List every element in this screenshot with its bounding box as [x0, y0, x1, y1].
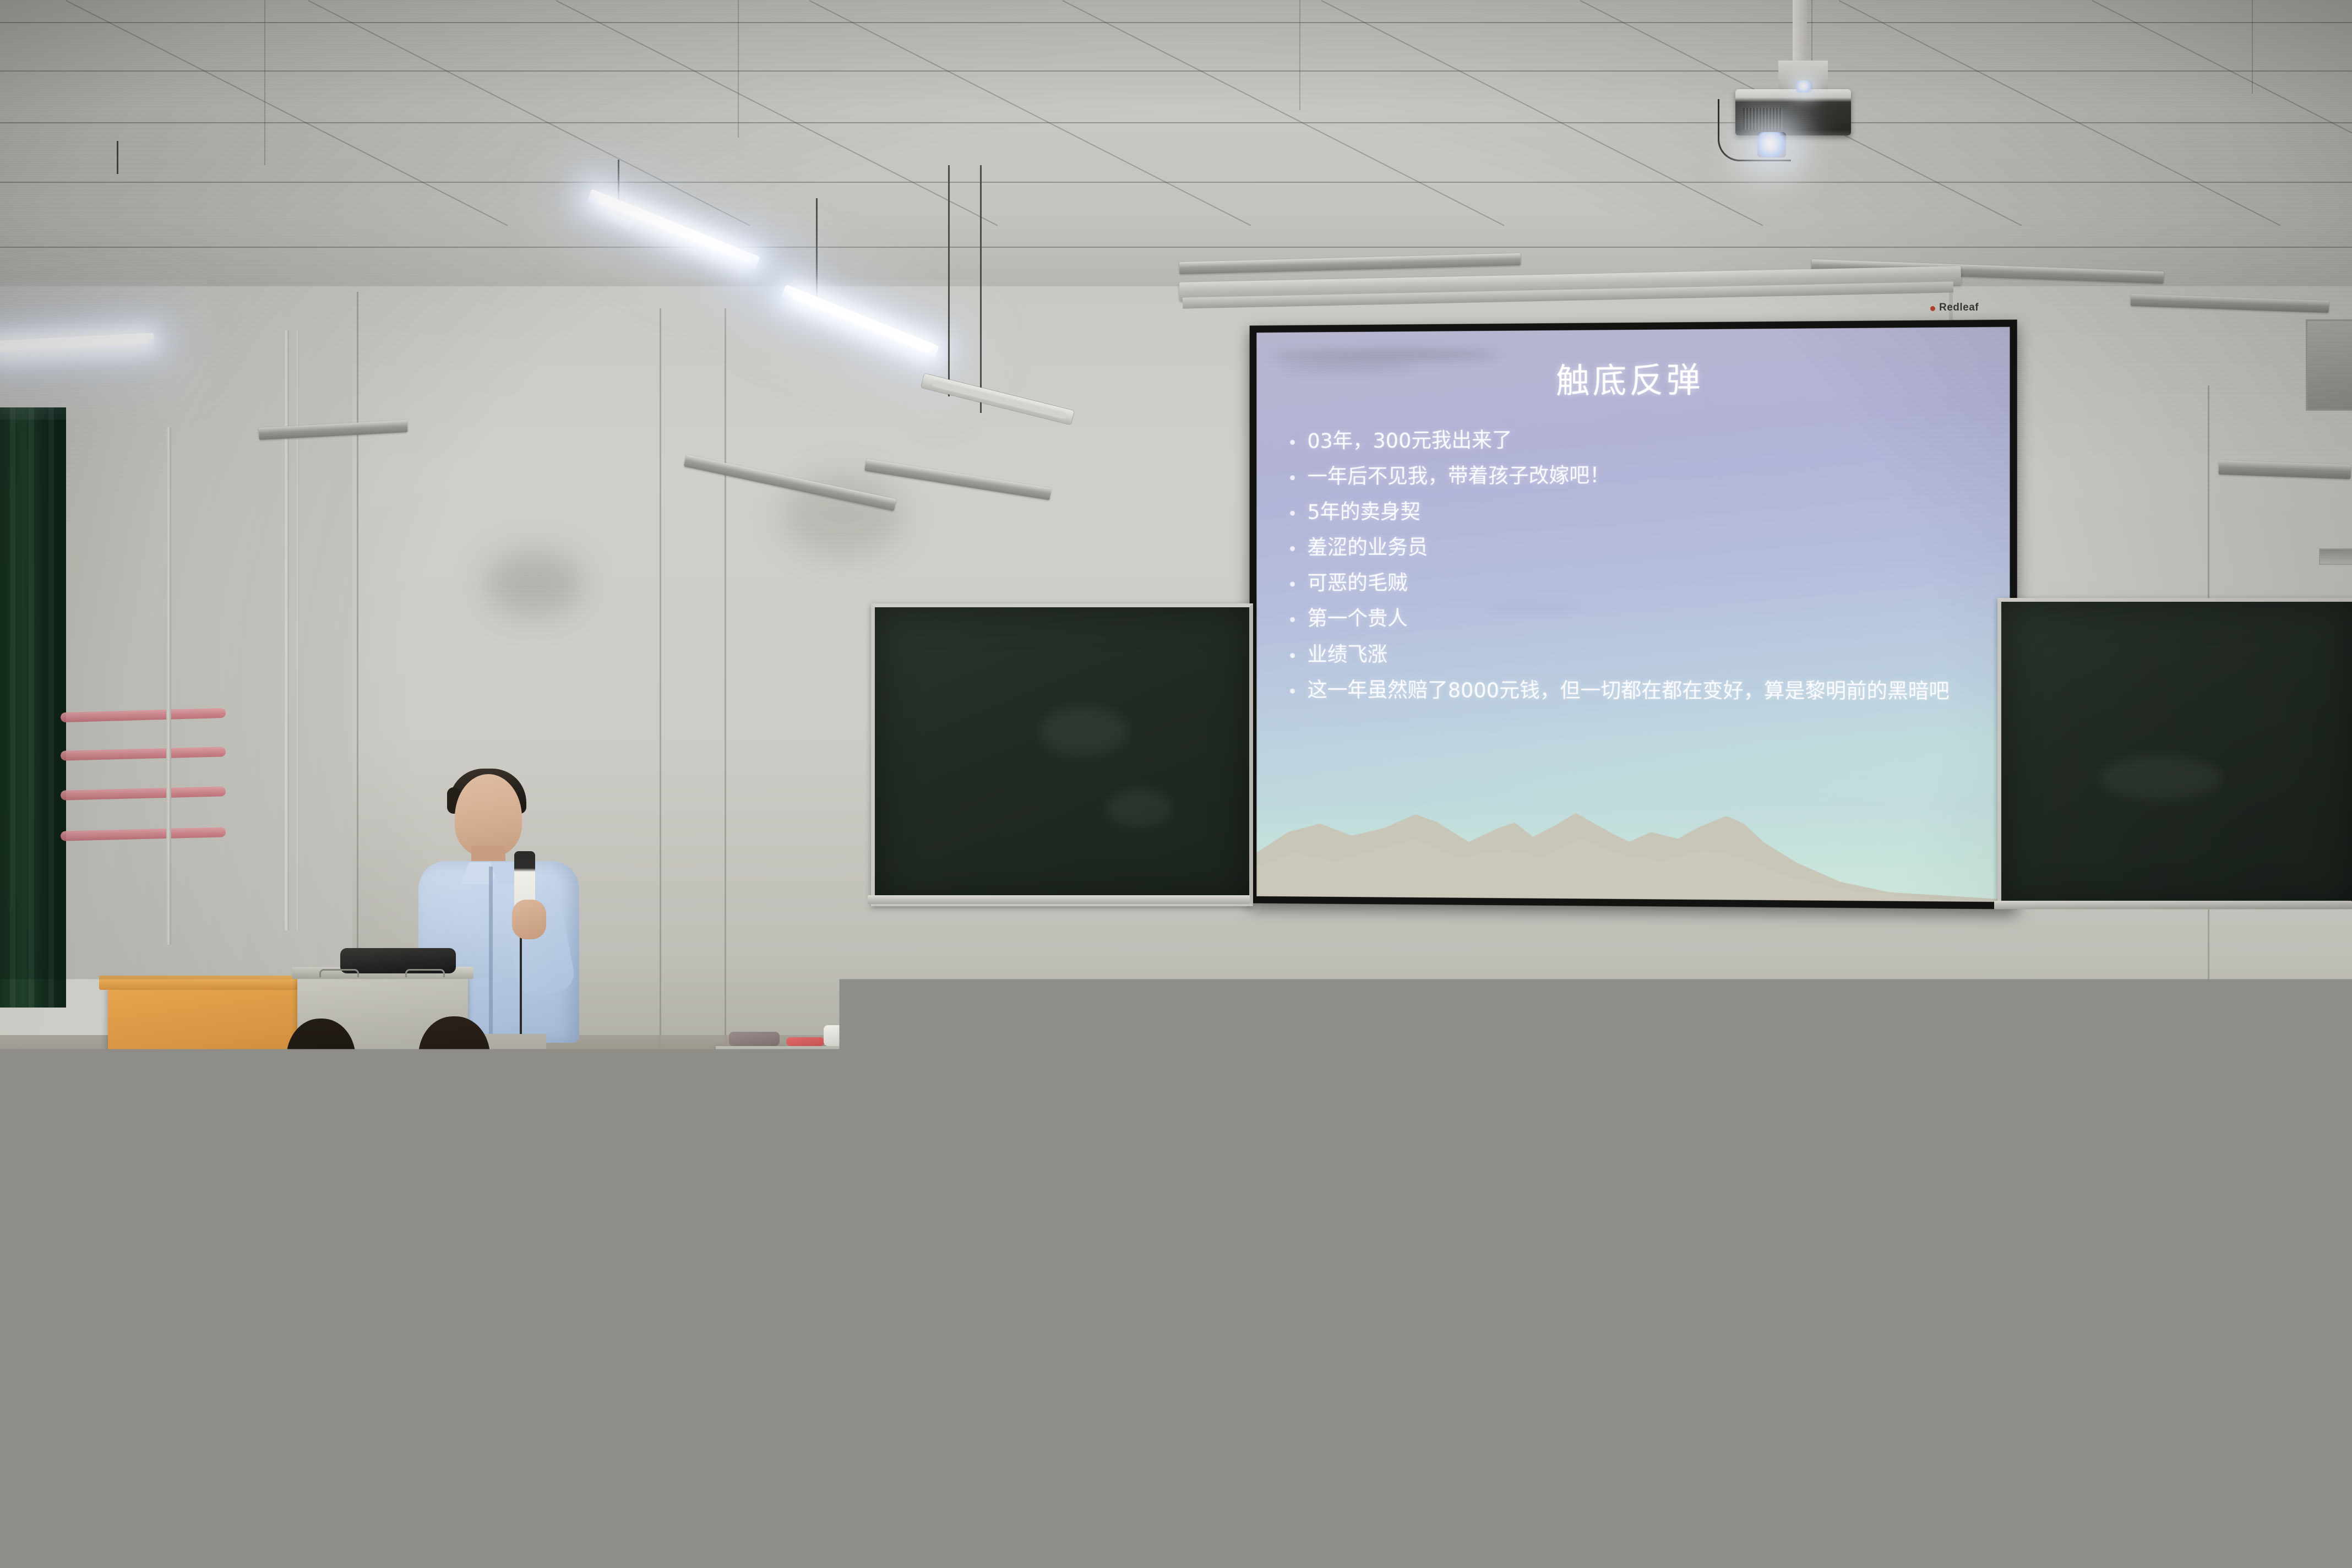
thermos-bottle: [1215, 1115, 1249, 1215]
student-head: [2268, 1011, 2344, 1119]
thermos-cap: [1213, 1107, 1250, 1119]
blackboard-right: [1997, 598, 2352, 912]
red-item-on-cabinet: [786, 1037, 825, 1046]
chalk-tray-right: [1994, 901, 2352, 910]
smartphone[interactable]: [2033, 1221, 2097, 1262]
slide-bullet-7: 业绩飞涨: [1287, 641, 1989, 668]
projector-indicator-light: [1796, 80, 1812, 92]
student-head: [1365, 1005, 1448, 1115]
wall-slot-panel: [2319, 548, 2352, 565]
student-body-blue: [385, 1063, 507, 1151]
student-uniform-blue: [490, 1231, 688, 1374]
student-body-dark-foreground: [2191, 1409, 2352, 1568]
minion-bottle-tab: [1370, 1379, 1389, 1393]
bullet-dot-icon: [1290, 582, 1295, 587]
student-uniform-blue: [0, 1398, 259, 1568]
slide-bullet-2: 一年后不见我，带着孩子改嫁吧！: [1287, 461, 1989, 490]
student-head: [1822, 1013, 1896, 1118]
student-head: [1888, 1140, 1977, 1266]
student-uniform-blue: [2213, 1211, 2352, 1343]
slide-mountain-artwork: [1256, 738, 2010, 902]
presenter-hand: [512, 900, 546, 939]
bullet-dot-icon: [1290, 653, 1295, 658]
wall-vent-panel: [2306, 319, 2352, 411]
desk-row-2-left: [0, 1167, 551, 1211]
handbag: [2032, 1119, 2106, 1180]
slide-bullet-5: 可恶的毛贼: [1287, 570, 1989, 597]
seat-back: [1916, 1489, 2070, 1549]
bench-edge: [1547, 1457, 2352, 1466]
ceiling: [0, 0, 2352, 308]
slide-bullet-list: 03年，300元我出来了 一年后不见我，带着孩子改嫁吧！ 5年的卖身契 羞涩的业…: [1287, 425, 1989, 715]
bullet-dot-icon: [1290, 440, 1295, 445]
bullet-dot-icon: [1290, 475, 1295, 480]
presenter-head: [455, 774, 522, 857]
student-bun-accessory: [1589, 1352, 1649, 1392]
student-uniform-blue: [75, 1233, 257, 1371]
slide-bullet-3: 5年的卖身契: [1287, 497, 1989, 526]
bullet-dot-icon: [1290, 688, 1295, 693]
slide-bullet-4: 羞涩的业务员: [1287, 533, 1989, 561]
seat-back: [1387, 1483, 1553, 1544]
student-head: [1910, 1009, 1988, 1118]
bullet-dot-icon: [1290, 546, 1295, 551]
student-head: [754, 1162, 842, 1261]
smartphone-front[interactable]: [1221, 1393, 1304, 1444]
projector-lens: [1757, 132, 1786, 157]
blackboard-left: [871, 603, 1253, 906]
student-head: [2004, 1013, 2077, 1117]
ceiling-projector: [1735, 89, 1851, 135]
cloth-on-cabinet: [729, 1032, 780, 1046]
presenter-shirt-placket: [489, 867, 493, 1041]
classroom-photo: Redleaf 触底反弹 03年，300元我出来了 一年后不见我，带着孩子改嫁吧…: [0, 0, 2352, 1568]
slide-bullet-8: 这一年虽然赔了8000元钱，但一切都在都在变好，算是黎明前的黑暗吧: [1287, 677, 1989, 705]
mountain-silhouette-icon: [1256, 771, 2010, 902]
seat-back: [473, 1498, 628, 1558]
wall-pipe-left: [166, 427, 171, 945]
student-body-green-2: [308, 1096, 385, 1162]
bench-edge: [661, 1461, 1509, 1470]
redleaf-logo-dot-icon: [1930, 306, 1935, 311]
presentation-slide: 触底反弹 03年，300元我出来了 一年后不见我，带着孩子改嫁吧！ 5年的卖身契…: [1256, 327, 2010, 902]
slide-bullet-1: 03年，300元我出来了: [1287, 425, 1989, 455]
wall-pipe-mid: [284, 330, 289, 930]
student-plaid-shirt: [1751, 1365, 1916, 1514]
wall-pipe-mid2: [296, 330, 299, 930]
bullet-dot-icon: [1290, 511, 1295, 516]
student-body-pink: [1310, 1217, 1426, 1316]
slide-bullet-6: 第一个贵人: [1287, 606, 1989, 633]
projection-screen: 触底反弹 03年，300元我出来了 一年后不见我，带着孩子改嫁吧！ 5年的卖身契…: [1250, 319, 2017, 909]
white-box-on-cabinet: [824, 1025, 843, 1046]
bunny-water-bottle: [1464, 1344, 1491, 1437]
slide-title: 触底反弹: [1256, 350, 2010, 405]
screen-brand-label: Redleaf: [1939, 302, 1979, 314]
student-uniform-blue: [1701, 1118, 1822, 1217]
chalk-tray-left: [868, 895, 1250, 904]
window-curtain: [0, 407, 66, 1008]
student-head: [1734, 1011, 1809, 1119]
bullet-dot-icon: [1290, 617, 1295, 622]
student-head: [2180, 1015, 2254, 1121]
student-head: [2095, 1010, 2171, 1118]
